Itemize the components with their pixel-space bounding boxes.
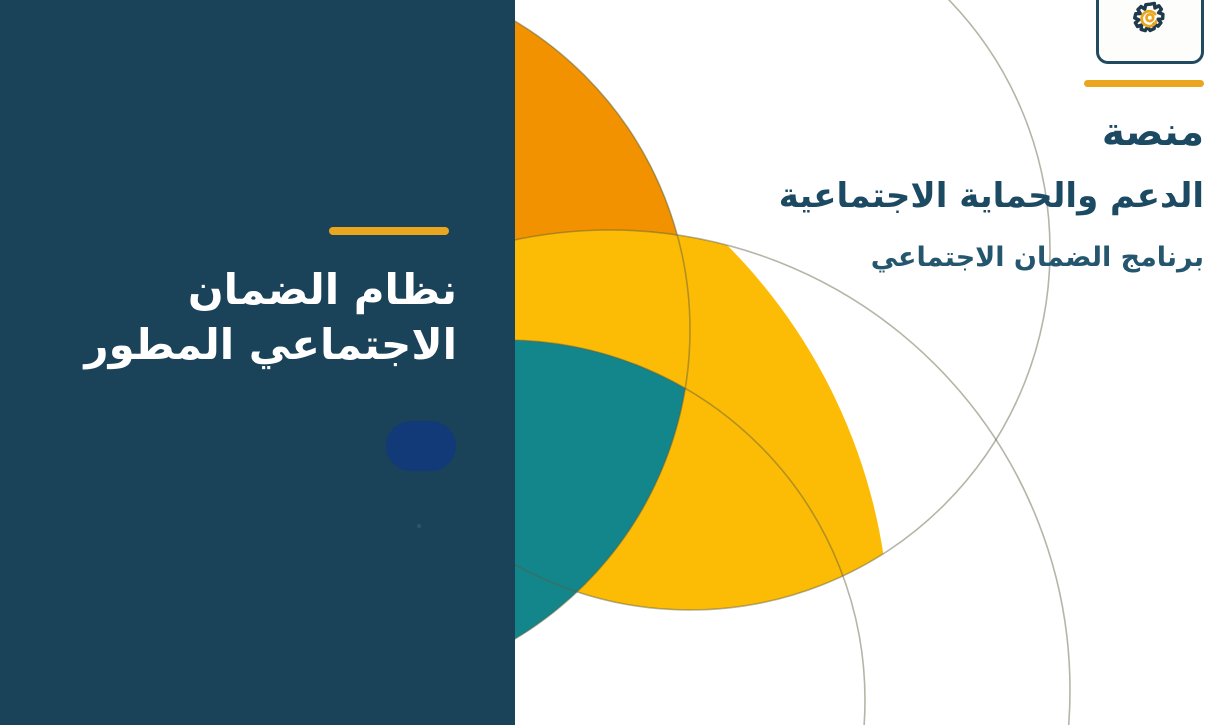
decorative-pill: [386, 421, 456, 471]
brand-line-1: منصة: [764, 112, 1204, 155]
promo-banner: نظام الضمان الاجتماعي المطور منصة الدعم …: [0, 0, 1220, 725]
gear-icon-frame: [1096, 0, 1204, 64]
panel-heading: نظام الضمان الاجتماعي المطور: [37, 262, 457, 373]
gear-icon: [1124, 0, 1176, 50]
brand-line-2: الدعم والحماية الاجتماعية: [764, 178, 1204, 215]
panel-accent-bar: [329, 227, 449, 235]
brand-accent-bar: [1084, 80, 1204, 87]
brand-line-3: برنامج الضمان الاجتماعي: [764, 242, 1204, 273]
brand-lockup: منصة الدعم والحماية الاجتماعية برنامج ال…: [750, 0, 1220, 340]
decorative-dot: [417, 524, 421, 528]
left-panel: نظام الضمان الاجتماعي المطور: [0, 0, 515, 725]
